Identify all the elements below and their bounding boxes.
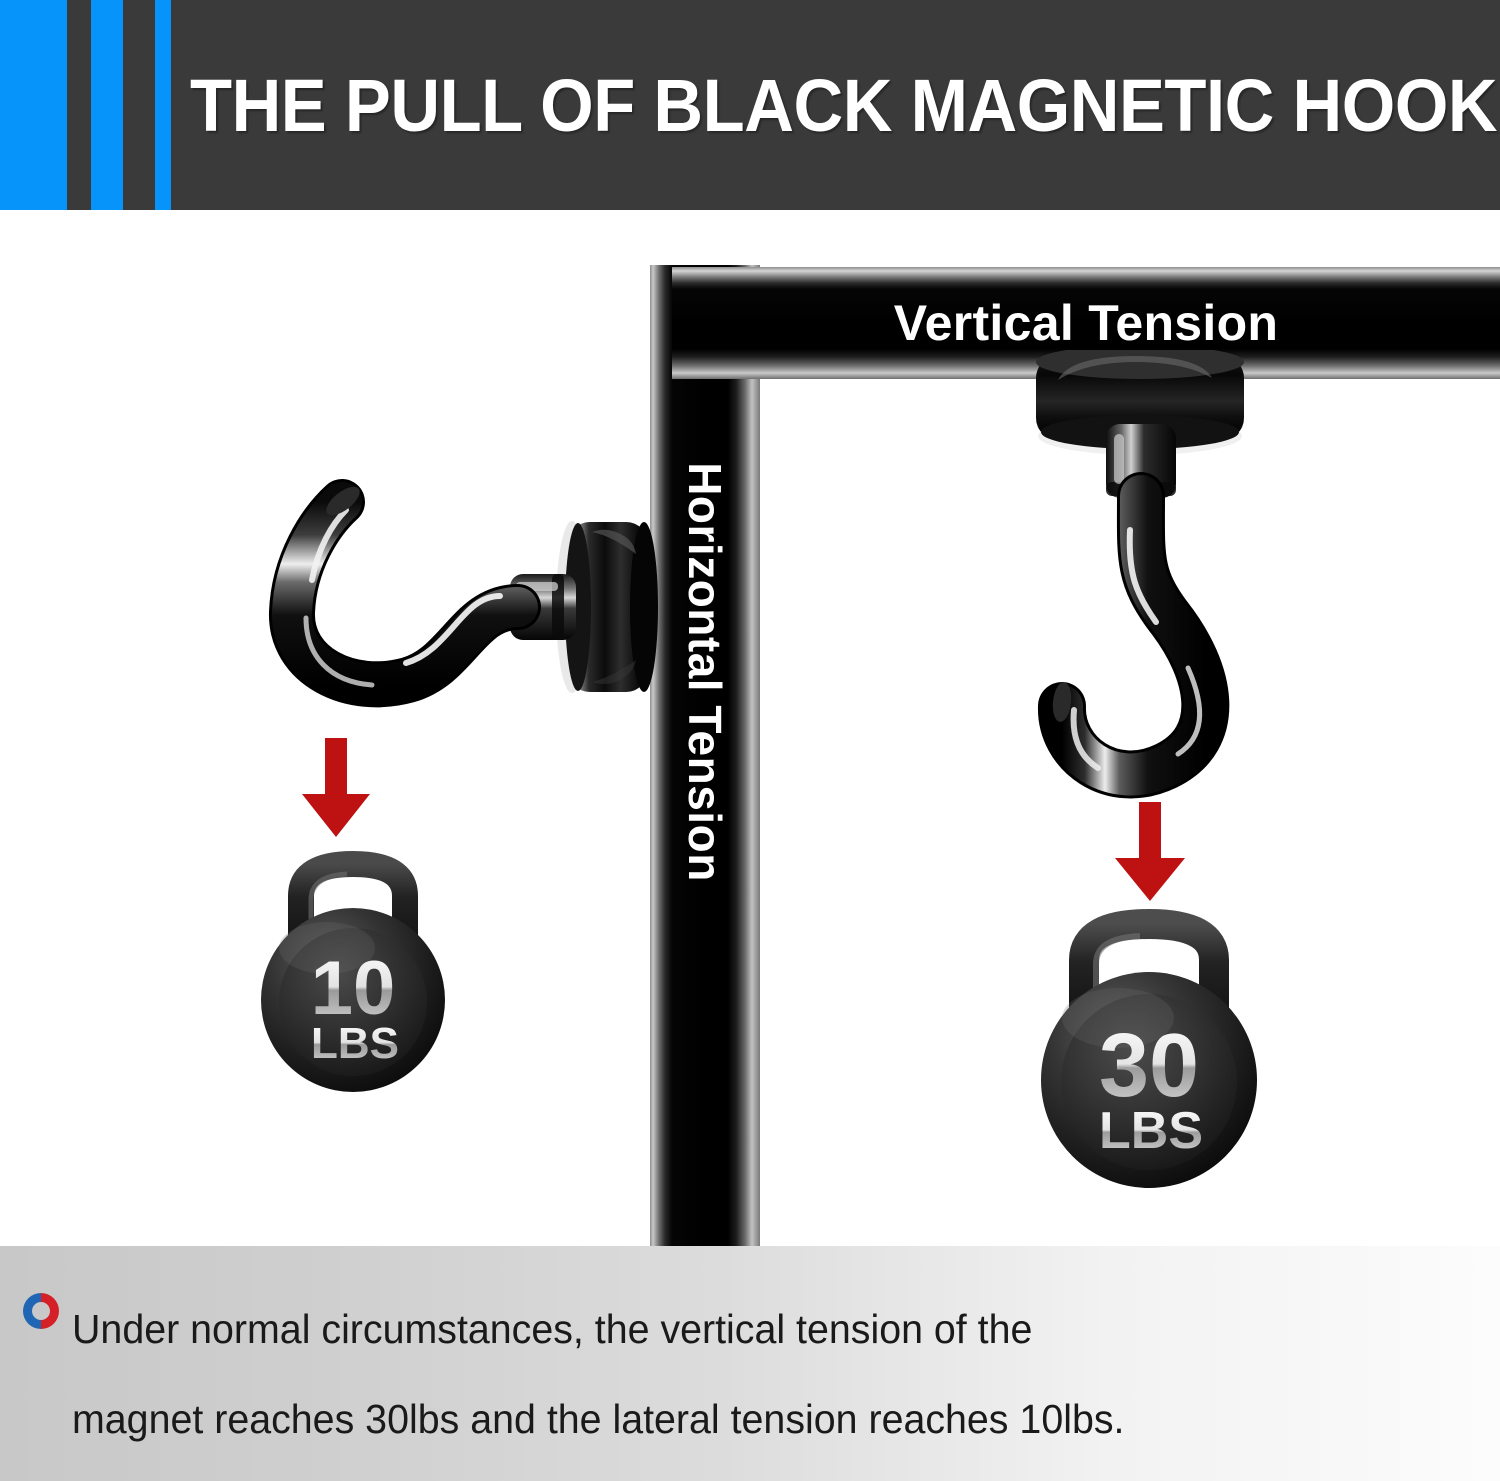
down-arrow-right <box>1113 802 1187 907</box>
weight-30lbs: 30 LBS <box>1018 898 1280 1203</box>
weight-unit: LBS <box>311 1019 399 1068</box>
accent-stripe-thin <box>155 0 171 210</box>
right-hook-assembly <box>980 350 1310 820</box>
hook-body-horizontal <box>292 502 518 685</box>
product-diagram-stage: Horizontal Tension Vertical Tension <box>0 210 1500 1246</box>
infographic-page: THE PULL OF BLACK MAGNETIC HOOK Horizont… <box>0 0 1500 1481</box>
accent-stripe-wide <box>0 0 67 210</box>
horizontal-magnetic-hook-icon <box>200 470 670 730</box>
caption-band: Under normal circumstances, the vertical… <box>0 1246 1500 1481</box>
vertical-magnetic-hook-icon <box>980 350 1310 820</box>
magnet-ring-icon <box>20 1290 62 1332</box>
header-banner: THE PULL OF BLACK MAGNETIC HOOK <box>0 0 1500 210</box>
weight-value: 30 <box>1099 1016 1199 1116</box>
down-arrow-left <box>300 738 372 843</box>
page-title: THE PULL OF BLACK MAGNETIC HOOK <box>190 0 1390 210</box>
left-hook-assembly <box>200 470 670 730</box>
weight-10lbs: 10 LBS <box>243 842 463 1107</box>
wall-bar-vertical <box>650 265 760 1246</box>
accent-stripe-medium <box>91 0 123 210</box>
hook-body-vertical <box>1062 496 1205 774</box>
caption-text: Under normal circumstances, the vertical… <box>72 1284 1416 1464</box>
weight-unit: LBS <box>1099 1102 1203 1160</box>
